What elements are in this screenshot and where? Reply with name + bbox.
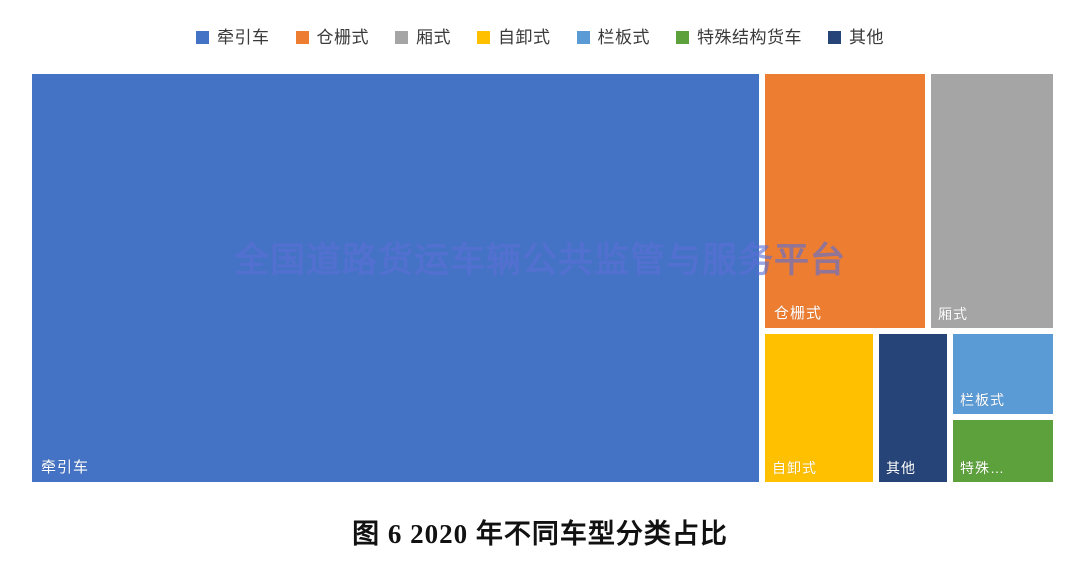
chart-legend: 牵引车仓栅式厢式自卸式栏板式特殊结构货车其他: [0, 20, 1080, 54]
legend-item[interactable]: 自卸式: [477, 29, 551, 46]
treemap-tile[interactable]: 自卸式: [763, 332, 875, 484]
legend-swatch-icon: [828, 31, 841, 44]
legend-item-label: 栏板式: [598, 29, 651, 46]
treemap-tile[interactable]: 厢式: [929, 72, 1055, 330]
legend-item[interactable]: 牵引车: [196, 29, 270, 46]
treemap-tile-label: 仓栅式: [774, 306, 822, 323]
legend-item-label: 其他: [849, 29, 884, 46]
treemap-tile[interactable]: 特殊…: [951, 418, 1055, 484]
treemap-tile-label: 其他: [886, 461, 916, 476]
legend-item-label: 仓栅式: [317, 29, 370, 46]
legend-swatch-icon: [296, 31, 309, 44]
legend-item-label: 特殊结构货车: [697, 29, 802, 46]
legend-item-label: 牵引车: [217, 29, 270, 46]
treemap-tile[interactable]: 其他: [877, 332, 949, 484]
treemap-chart: 牵引车仓栅式厢式自卸式其他栏板式特殊…: [30, 72, 1055, 484]
legend-item-label: 自卸式: [498, 29, 551, 46]
legend-item[interactable]: 仓栅式: [296, 29, 370, 46]
legend-item[interactable]: 特殊结构货车: [676, 29, 802, 46]
legend-swatch-icon: [676, 31, 689, 44]
treemap-tile[interactable]: 仓栅式: [763, 72, 927, 330]
legend-swatch-icon: [577, 31, 590, 44]
legend-item[interactable]: 厢式: [395, 29, 451, 46]
treemap-tile-label: 特殊…: [960, 461, 1005, 476]
legend-swatch-icon: [395, 31, 408, 44]
treemap-tile-label: 自卸式: [772, 461, 817, 476]
figure-caption: 图 6 2020 年不同车型分类占比: [0, 512, 1080, 551]
treemap-tile-label: 厢式: [938, 307, 968, 322]
legend-swatch-icon: [196, 31, 209, 44]
treemap-tile-label: 栏板式: [960, 393, 1005, 408]
legend-item[interactable]: 栏板式: [577, 29, 651, 46]
legend-item[interactable]: 其他: [828, 29, 884, 46]
legend-swatch-icon: [477, 31, 490, 44]
legend-item-label: 厢式: [416, 29, 451, 46]
treemap-tile[interactable]: 栏板式: [951, 332, 1055, 416]
treemap-tile[interactable]: 牵引车: [30, 72, 761, 484]
treemap-tile-label: 牵引车: [41, 460, 89, 477]
